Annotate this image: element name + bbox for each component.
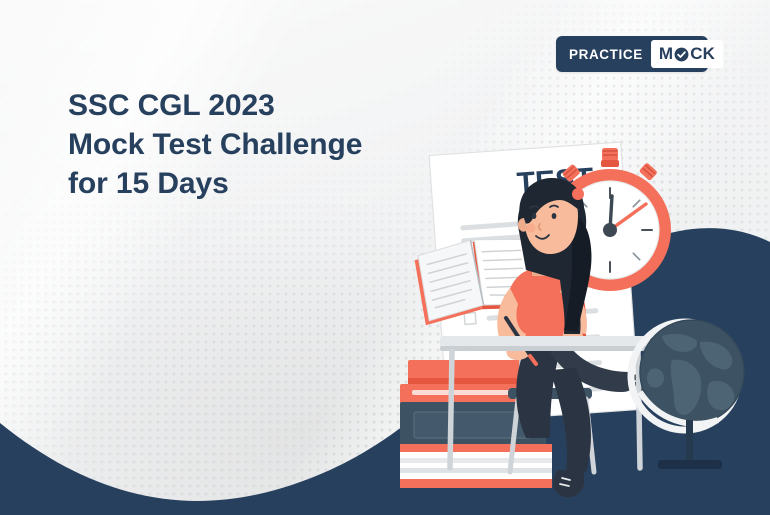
- logo-mock-prefix: M: [659, 44, 673, 64]
- logo-mock-panel: M CK: [651, 40, 723, 68]
- brand-logo[interactable]: PRACTICE M CK: [556, 36, 708, 72]
- check-icon: [674, 47, 689, 62]
- logo-mock-suffix: CK: [690, 44, 715, 64]
- logo-practice-text: PRACTICE: [560, 47, 651, 62]
- banner-canvas: PRACTICE M CK SSC CGL 2023 Mock Test Cha…: [0, 0, 770, 515]
- hero-illustration: TEST: [400, 120, 770, 515]
- logo-mock-text: M CK: [659, 44, 715, 64]
